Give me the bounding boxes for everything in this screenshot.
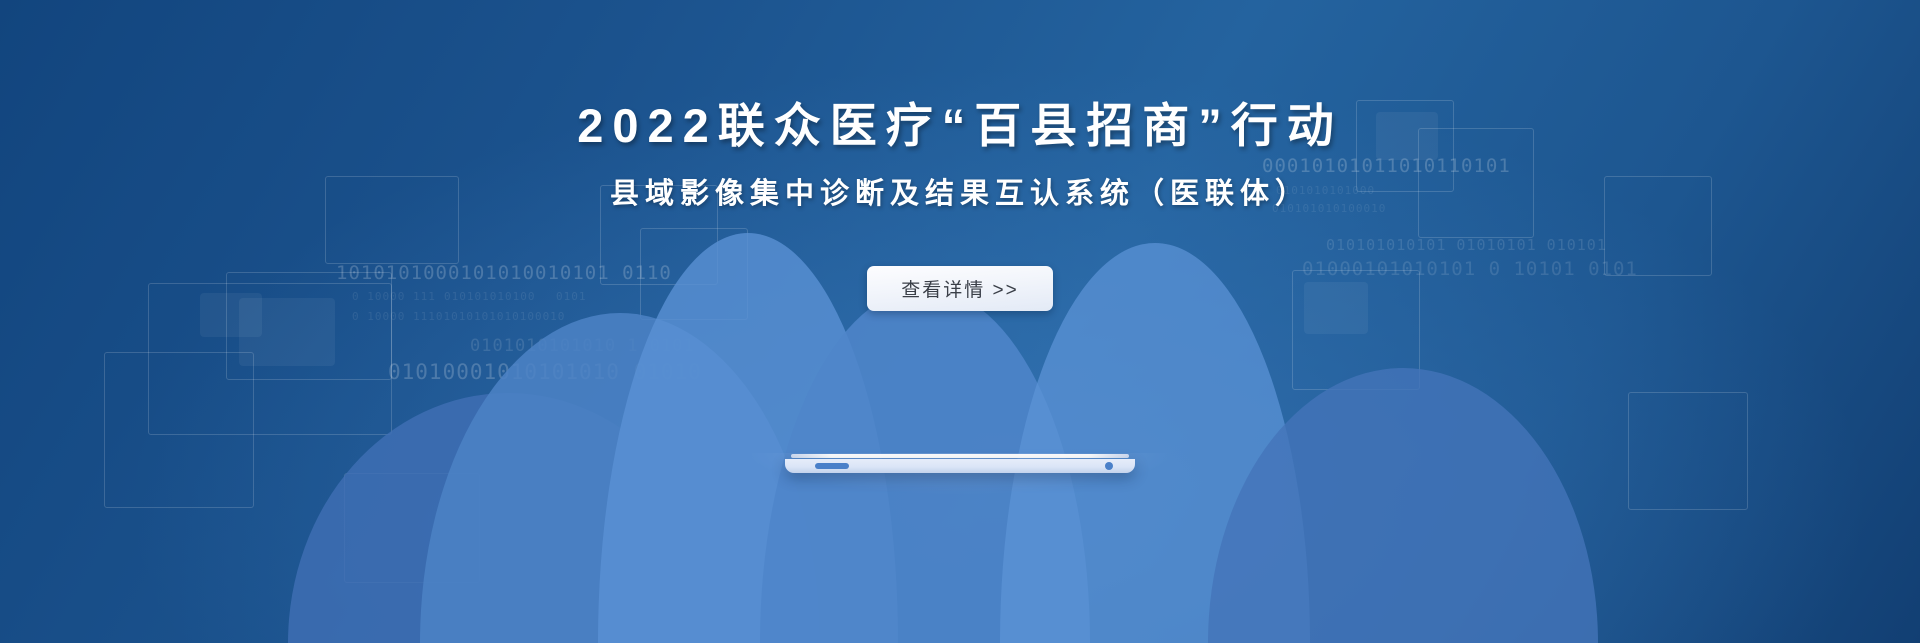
device-body [785,459,1135,473]
device-base [785,454,1135,473]
device-home-button-icon[interactable] [1105,462,1113,470]
banner-content: 2022联众医疗“百县招商”行动 县域影像集中诊断及结果互认系统（医联体） 查看… [0,0,1920,311]
view-details-button[interactable]: 查看详情 >> [867,266,1053,311]
device-screen-edge [791,454,1129,458]
device-speaker-icon [815,463,849,469]
banner-subtitle: 县域影像集中诊断及结果互认系统（医联体） [0,156,1920,214]
banner-title: 2022联众医疗“百县招商”行动 [0,0,1920,156]
promo-banner: 1010101000101010010101 0110 0 10000 111 … [0,0,1920,643]
cta-container: 查看详情 >> [0,266,1920,311]
